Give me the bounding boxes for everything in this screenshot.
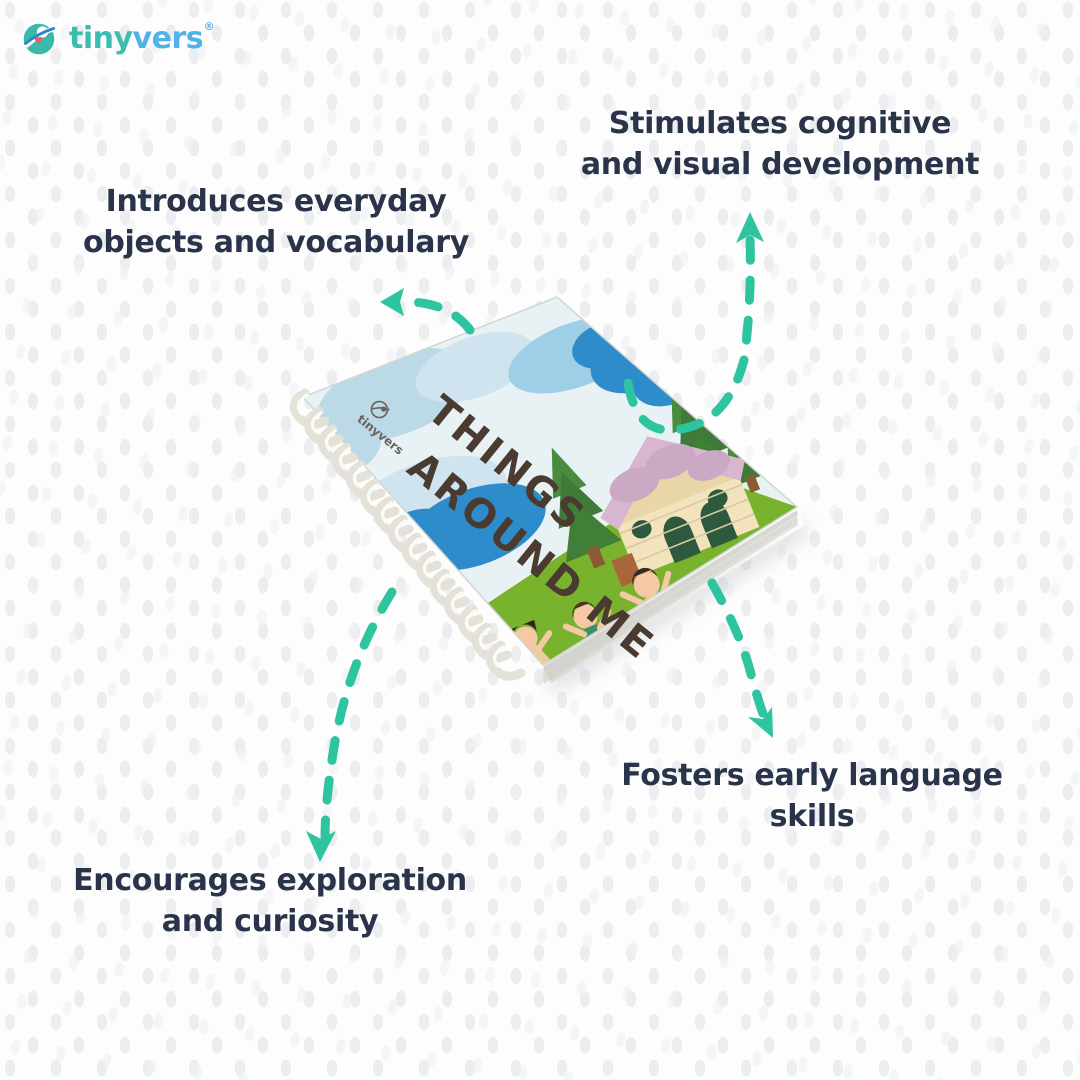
- product-book-image: THINGS AROUND ME tinyvers: [275, 275, 825, 705]
- registered-trademark-icon: ®: [204, 21, 215, 32]
- feature-caption-language: Fosters early language skills: [612, 756, 1012, 838]
- tinyvers-logo-icon: [18, 18, 60, 60]
- brand-word-vers: vers: [133, 21, 204, 56]
- caption-line-2: and visual development: [560, 145, 1000, 186]
- poster-canvas: tinyvers® Stimulates cognitive and visua…: [0, 0, 1080, 1080]
- spiral-book-illustration: THINGS AROUND ME tinyvers: [275, 275, 825, 705]
- feature-caption-exploration: Encourages exploration and curiosity: [60, 861, 480, 943]
- caption-line-1: Fosters early language: [612, 756, 1012, 797]
- caption-line-2: and curiosity: [60, 902, 480, 943]
- caption-line-2: objects and vocabulary: [76, 223, 476, 264]
- brand-word-tiny: tiny: [69, 21, 133, 56]
- feature-caption-vocabulary: Introduces everyday objects and vocabula…: [76, 182, 476, 264]
- feature-caption-cognitive: Stimulates cognitive and visual developm…: [560, 104, 1000, 186]
- caption-line-1: Introduces everyday: [76, 182, 476, 223]
- caption-line-1: Stimulates cognitive: [560, 104, 1000, 145]
- brand-logo[interactable]: tinyvers®: [18, 18, 203, 60]
- caption-line-2: skills: [612, 797, 1012, 838]
- caption-line-1: Encourages exploration: [60, 861, 480, 902]
- brand-wordmark: tinyvers®: [69, 24, 203, 54]
